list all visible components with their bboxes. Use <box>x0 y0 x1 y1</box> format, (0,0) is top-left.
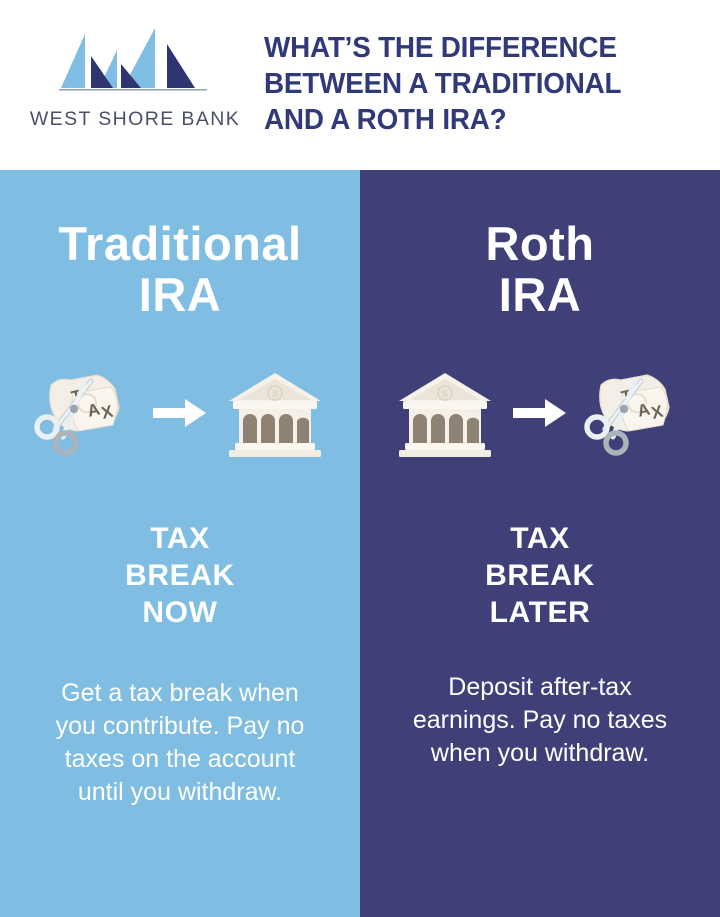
panel-roth-icon-row: $ <box>390 358 690 468</box>
title-line-2: BETWEEN A TRADITIONAL <box>264 66 692 102</box>
svg-text:$: $ <box>442 389 448 400</box>
kicker-line-3: LATER <box>485 594 595 631</box>
panel-roth-description: Deposit after-tax earnings. Pay no taxes… <box>409 671 671 770</box>
kicker-line-3: NOW <box>125 594 235 631</box>
kicker-line-2: BREAK <box>485 557 595 594</box>
arrow-right-icon-wrap <box>507 383 573 443</box>
panel-traditional-icon-row: T A X <box>30 358 330 468</box>
comparison-panels: Traditional IRA T A X <box>0 170 720 917</box>
header-bar: WEST SHORE BANK WHAT’S THE DIFFERENCE BE… <box>0 0 720 170</box>
bank-building-icon: $ <box>395 367 495 459</box>
tax-scissors-icon: T A X <box>583 363 687 463</box>
title-line-1: WHAT’S THE DIFFERENCE <box>264 30 692 66</box>
panel-roth-ira: Roth IRA $ <box>360 170 720 917</box>
panel-roth-heading-line2: IRA <box>370 269 710 320</box>
panel-traditional-heading: Traditional IRA <box>10 218 350 320</box>
title-line-3: AND A ROTH IRA? <box>264 102 692 138</box>
svg-text:$: $ <box>272 389 278 400</box>
panel-traditional-heading-line2: IRA <box>10 269 350 320</box>
infographic-root: WEST SHORE BANK WHAT’S THE DIFFERENCE BE… <box>0 0 720 917</box>
bank-building-icon-wrap: $ <box>391 360 499 466</box>
panel-traditional-ira: Traditional IRA T A X <box>0 170 360 917</box>
panel-roth-heading-line1: Roth <box>485 217 594 270</box>
kicker-line-1: TAX <box>485 520 595 557</box>
page-title: WHAT’S THE DIFFERENCE BETWEEN A TRADITIO… <box>264 30 692 138</box>
brand-wordmark: WEST SHORE BANK <box>30 108 240 131</box>
panel-roth-kicker: TAX BREAK LATER <box>485 520 595 631</box>
tax-scissors-icon: T A X <box>33 363 137 463</box>
panel-traditional-kicker: TAX BREAK NOW <box>125 520 235 631</box>
panel-roth-heading: Roth IRA <box>370 218 710 320</box>
sailboat-sails-logo-icon <box>55 26 215 104</box>
arrow-right-icon <box>511 396 569 430</box>
kicker-line-2: BREAK <box>125 557 235 594</box>
bank-building-icon-wrap: $ <box>221 360 329 466</box>
arrow-right-icon <box>151 396 209 430</box>
panel-traditional-heading-line1: Traditional <box>58 217 301 270</box>
bank-building-icon: $ <box>225 367 325 459</box>
tax-scissors-icon-wrap: T A X <box>581 360 689 466</box>
tax-scissors-icon-wrap: T A X <box>31 360 139 466</box>
panel-traditional-description: Get a tax break when you contribute. Pay… <box>55 677 305 809</box>
brand-logo: WEST SHORE BANK <box>24 26 246 138</box>
kicker-line-1: TAX <box>125 520 235 557</box>
arrow-right-icon-wrap <box>147 383 213 443</box>
